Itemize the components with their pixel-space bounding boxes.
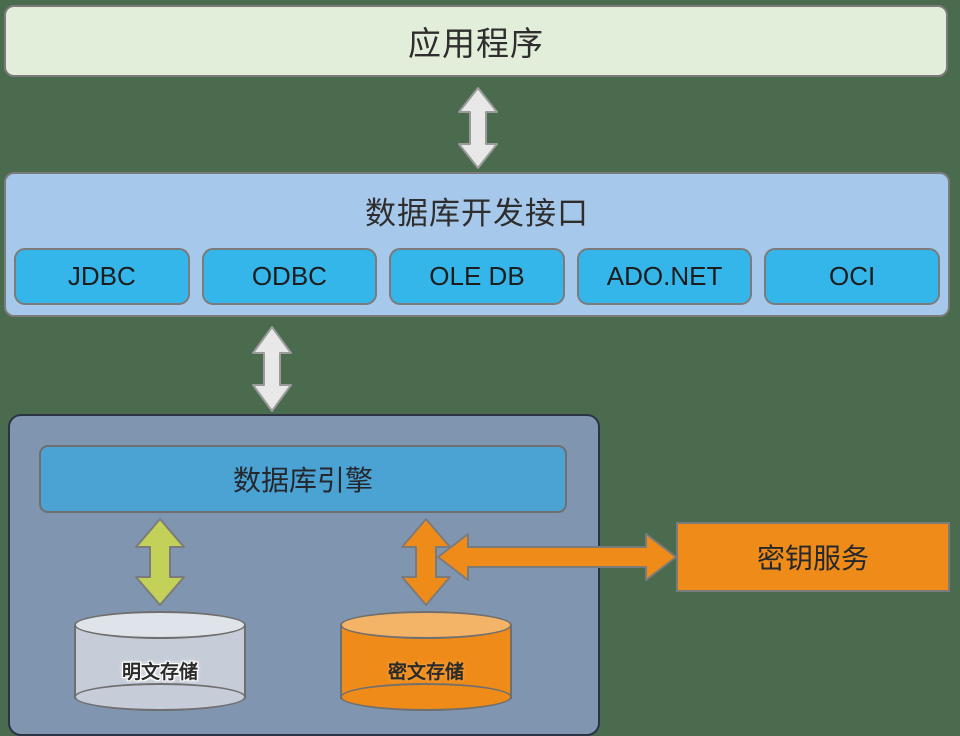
api-button-label: OLE DB xyxy=(429,261,524,292)
api-button-label: ADO.NET xyxy=(607,261,723,292)
cylinder-top xyxy=(74,611,246,639)
api-button-row: JDBC ODBC OLE DB ADO.NET OCI xyxy=(14,248,940,305)
cylinder-bottom xyxy=(340,683,512,711)
diagram-canvas: 应用程序 数据库开发接口 JDBC ODBC OLE DB ADO.NET OC… xyxy=(0,0,960,732)
application-box[interactable]: 应用程序 xyxy=(4,5,948,77)
application-label: 应用程序 xyxy=(408,17,544,65)
connector-api-to-engine-arrow xyxy=(250,325,294,413)
ciphertext-store-cylinder[interactable]: 密文存储 xyxy=(340,611,512,711)
plaintext-store-cylinder[interactable]: 明文存储 xyxy=(74,611,246,711)
api-button-ole-db[interactable]: OLE DB xyxy=(389,248,565,305)
api-button-oci[interactable]: OCI xyxy=(764,248,940,305)
api-layer-panel: 数据库开发接口 JDBC ODBC OLE DB ADO.NET OCI xyxy=(4,172,950,317)
api-button-jdbc[interactable]: JDBC xyxy=(14,248,190,305)
database-engine-box[interactable]: 数据库引擎 xyxy=(39,445,567,513)
cylinder-top xyxy=(340,611,512,639)
plaintext-store-label: 明文存储 xyxy=(74,657,246,684)
ciphertext-store-label: 密文存储 xyxy=(340,657,512,684)
api-button-label: OCI xyxy=(829,261,875,292)
api-button-label: JDBC xyxy=(68,261,136,292)
key-service-box[interactable]: 密钥服务 xyxy=(676,522,950,592)
api-layer-title: 数据库开发接口 xyxy=(6,188,948,233)
key-service-label: 密钥服务 xyxy=(757,537,869,577)
api-button-ado-net[interactable]: ADO.NET xyxy=(577,248,753,305)
connector-app-to-api-arrow xyxy=(456,86,500,170)
cylinder-bottom xyxy=(74,683,246,711)
connector-engine-to-key-service-arrow xyxy=(436,530,678,584)
api-button-label: ODBC xyxy=(252,261,327,292)
database-engine-label: 数据库引擎 xyxy=(233,459,373,499)
connector-engine-to-plaintext-arrow xyxy=(132,517,188,607)
api-button-odbc[interactable]: ODBC xyxy=(202,248,378,305)
